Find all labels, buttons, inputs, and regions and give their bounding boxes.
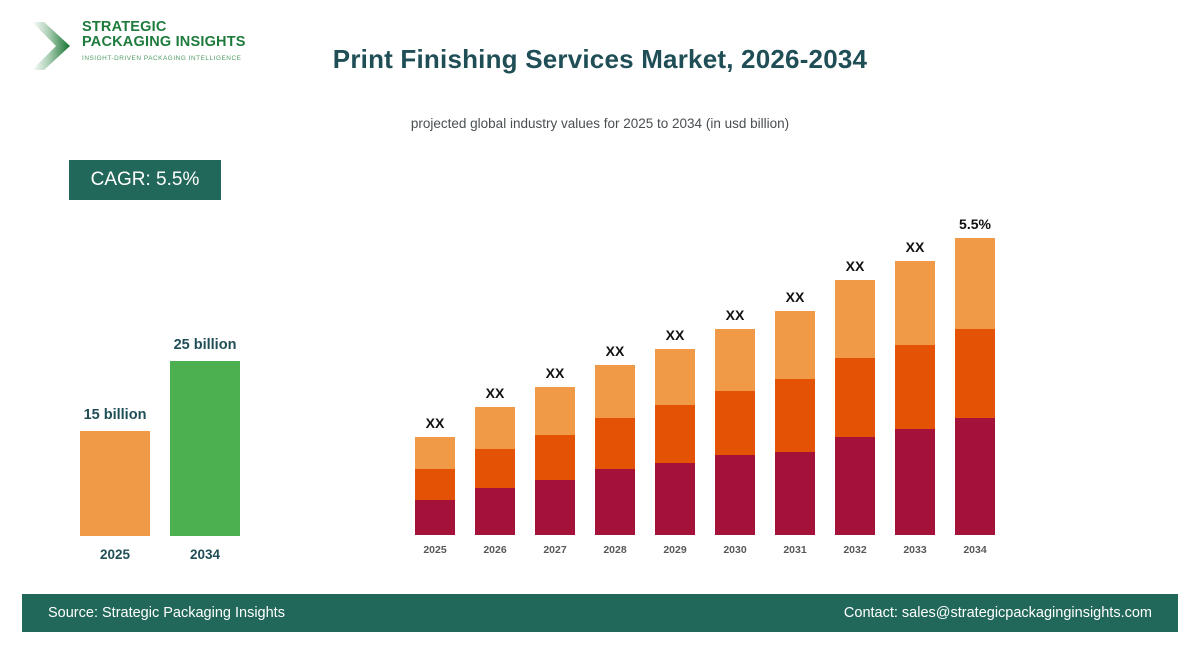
stacked-bar-segment — [895, 345, 935, 429]
stacked-bar-segment — [835, 280, 875, 358]
stacked-bar-segment — [595, 365, 635, 418]
stacked-bar-label: XX — [705, 307, 765, 323]
footer-bar: Source: Strategic Packaging Insights Con… — [22, 594, 1178, 632]
stacked-bar-label: XX — [465, 385, 525, 401]
stacked-bar-year: 2033 — [885, 544, 945, 556]
footer-contact: Contact: sales@strategicpackaginginsight… — [844, 605, 1152, 621]
stacked-bar-segment — [775, 311, 815, 379]
stacked-bar-label: XX — [645, 327, 705, 343]
stacked-bar: XX — [655, 349, 695, 535]
stacked-bar-year: 2030 — [705, 544, 765, 556]
comparison-bar-year: 2034 — [145, 547, 265, 562]
stacked-bar-segment — [535, 387, 575, 435]
stacked-bar-year: 2031 — [765, 544, 825, 556]
stacked-bar-segment — [535, 480, 575, 535]
stacked-bar-year: 2025 — [405, 544, 465, 556]
stacked-bar-segment — [475, 449, 515, 488]
stacked-bar-segment — [655, 349, 695, 405]
comparison-bar-value: 25 billion — [125, 337, 285, 353]
stacked-bar: XX — [715, 329, 755, 535]
stacked-bar-year: 2026 — [465, 544, 525, 556]
stacked-bar-segment — [655, 463, 695, 535]
segment-forecast-chart: XX2025XX2026XX2027XX2028XX2029XX2030XX20… — [405, 195, 1025, 560]
stacked-bar-segment — [415, 500, 455, 535]
market-size-comparison-chart: 15 billion202525 billion2034 — [40, 300, 300, 570]
stacked-bar-label: XX — [405, 415, 465, 431]
cagr-badge: CAGR: 5.5% — [69, 160, 221, 200]
stacked-bar-segment — [775, 452, 815, 535]
stacked-bar-segment — [895, 261, 935, 345]
stacked-bar-year: 2034 — [945, 544, 1005, 556]
stacked-bar-segment — [835, 358, 875, 437]
stacked-bar-year: 2029 — [645, 544, 705, 556]
stacked-bar: XX — [775, 311, 815, 535]
stacked-bar-segment — [535, 435, 575, 480]
stacked-bar: XX — [895, 261, 935, 535]
stacked-bar-label: XX — [765, 289, 825, 305]
stacked-bar: XX — [415, 437, 455, 535]
stacked-bar-segment — [895, 429, 935, 535]
stacked-bar-segment — [475, 407, 515, 449]
comparison-bar: 15 billion — [80, 431, 150, 536]
stacked-bar-label: 5.5% — [945, 216, 1005, 232]
stacked-bar: XX — [595, 365, 635, 535]
stacked-bar: XX — [835, 280, 875, 535]
comparison-bar: 25 billion — [170, 361, 240, 536]
stacked-bar-year: 2027 — [525, 544, 585, 556]
stacked-bar-segment — [655, 405, 695, 463]
page-title: Print Finishing Services Market, 2026-20… — [0, 44, 1200, 75]
footer-source: Source: Strategic Packaging Insights — [48, 605, 285, 621]
stacked-bar-label: XX — [825, 258, 885, 274]
stacked-bar-segment — [715, 455, 755, 535]
stacked-bar-segment — [955, 418, 995, 535]
page-subtitle: projected global industry values for 202… — [0, 116, 1200, 131]
stacked-bar-segment — [955, 238, 995, 329]
stacked-bar-year: 2032 — [825, 544, 885, 556]
stacked-bar-segment — [475, 488, 515, 535]
stacked-bar-label: XX — [885, 239, 945, 255]
stacked-bar-year: 2028 — [585, 544, 645, 556]
stacked-bar: XX — [535, 387, 575, 535]
stacked-bar-segment — [835, 437, 875, 535]
comparison-bar-fill — [170, 361, 240, 536]
stacked-bar: XX — [475, 407, 515, 535]
stacked-bar-segment — [595, 469, 635, 535]
stacked-bar-label: XX — [585, 343, 645, 359]
stacked-bar-segment — [715, 329, 755, 391]
stacked-bar-segment — [775, 379, 815, 452]
stacked-bar-segment — [715, 391, 755, 455]
chart-infographic: STRATEGIC PACKAGING INSIGHTS INSIGHT-DRI… — [0, 0, 1200, 650]
stacked-bar: 5.5% — [955, 238, 995, 535]
comparison-bar-fill — [80, 431, 150, 536]
stacked-bar-segment — [595, 418, 635, 469]
stacked-bar-segment — [415, 469, 455, 500]
stacked-bar-segment — [415, 437, 455, 469]
stacked-bar-segment — [955, 329, 995, 418]
brand-name-line1: STRATEGIC — [82, 20, 246, 35]
stacked-bar-label: XX — [525, 365, 585, 381]
